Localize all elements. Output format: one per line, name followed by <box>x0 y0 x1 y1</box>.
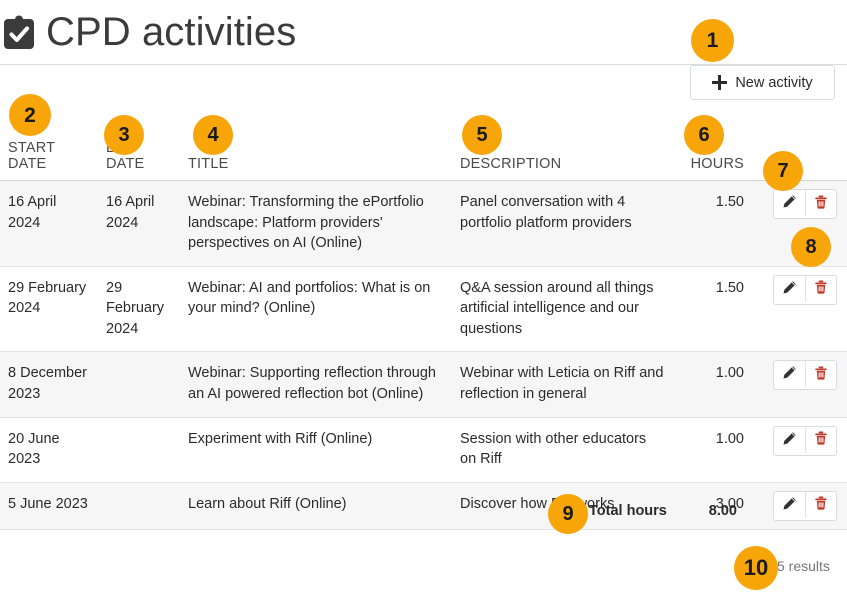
annotation-badge-7: 7 <box>763 151 803 191</box>
pencil-icon <box>782 280 797 298</box>
edit-button[interactable] <box>774 190 805 216</box>
table-row: 20 June 2023 Experiment with Riff (Onlin… <box>0 417 847 482</box>
pencil-icon <box>782 431 797 449</box>
total-hours-value: 8.00 <box>663 503 737 519</box>
new-activity-button[interactable]: New activity <box>690 65 835 100</box>
edit-button[interactable] <box>774 427 805 453</box>
edit-button[interactable] <box>774 276 805 302</box>
row-action-group <box>773 360 837 390</box>
delete-button[interactable] <box>805 427 836 453</box>
cell-start-date: 8 December 2023 <box>0 352 98 417</box>
cell-end-date <box>98 352 180 417</box>
trash-icon <box>814 195 828 212</box>
cell-description: Webinar with Leticia on Riff and reflect… <box>452 352 674 417</box>
total-hours-label: Total hours <box>589 503 667 519</box>
row-action-group <box>773 275 837 305</box>
row-action-group <box>773 189 837 219</box>
cell-end-date <box>98 417 180 482</box>
cell-description: Q&A session around all things artificial… <box>452 266 674 352</box>
pencil-icon <box>782 365 797 383</box>
trash-icon <box>814 431 828 448</box>
cell-title: Webinar: Transforming the ePortfolio lan… <box>180 181 452 267</box>
plus-icon <box>712 75 727 90</box>
cell-actions <box>752 352 847 417</box>
clipboard-check-icon <box>2 15 36 51</box>
cell-title: Webinar: Supporting reflection through a… <box>180 352 452 417</box>
new-activity-label: New activity <box>735 75 812 91</box>
annotation-badge-9: 9 <box>548 494 588 534</box>
cell-hours: 1.50 <box>674 266 752 352</box>
cell-end-date: 16 April 2024 <box>98 181 180 267</box>
cell-start-date: 16 April 2024 <box>0 181 98 267</box>
results-count: 5 results <box>777 558 830 574</box>
table-row: 29 February 2024 29 February 2024 Webina… <box>0 266 847 352</box>
row-action-group <box>773 426 837 456</box>
annotation-badge-2: 2 <box>9 94 51 136</box>
annotation-badge-4: 4 <box>193 115 233 155</box>
cell-actions <box>752 266 847 352</box>
cell-actions <box>752 417 847 482</box>
cell-title: Experiment with Riff (Online) <box>180 417 452 482</box>
edit-button[interactable] <box>774 361 805 387</box>
cell-description: Panel conversation with 4 portfolio plat… <box>452 181 674 267</box>
cell-description: Session with other educators on Riff <box>452 417 674 482</box>
total-hours-row: Total hours 8.00 <box>0 503 847 525</box>
cell-hours: 1.00 <box>674 417 752 482</box>
cpd-activities-table: START DATE END DATE TITLE DESCRIPTION HO… <box>0 110 847 530</box>
cell-hours: 1.00 <box>674 352 752 417</box>
cell-end-date: 29 February 2024 <box>98 266 180 352</box>
table-row: 8 December 2023 Webinar: Supporting refl… <box>0 352 847 417</box>
pencil-icon <box>782 194 797 212</box>
annotation-badge-3: 3 <box>104 115 144 155</box>
cell-start-date: 29 February 2024 <box>0 266 98 352</box>
delete-button[interactable] <box>805 276 836 302</box>
page-title: CPD activities <box>46 12 296 52</box>
table-body: 16 April 2024 16 April 2024 Webinar: Tra… <box>0 181 847 530</box>
annotation-badge-1: 1 <box>691 19 734 62</box>
trash-icon <box>814 366 828 383</box>
cell-hours: 1.50 <box>674 181 752 267</box>
cell-title: Webinar: AI and portfolios: What is on y… <box>180 266 452 352</box>
trash-icon <box>814 280 828 297</box>
table-row: 16 April 2024 16 April 2024 Webinar: Tra… <box>0 181 847 267</box>
delete-button[interactable] <box>805 361 836 387</box>
annotation-badge-8: 8 <box>791 227 831 267</box>
cell-start-date: 20 June 2023 <box>0 417 98 482</box>
annotation-badge-5: 5 <box>462 115 502 155</box>
annotation-badge-10: 10 <box>734 546 778 590</box>
delete-button[interactable] <box>805 190 836 216</box>
annotation-badge-6: 6 <box>684 115 724 155</box>
